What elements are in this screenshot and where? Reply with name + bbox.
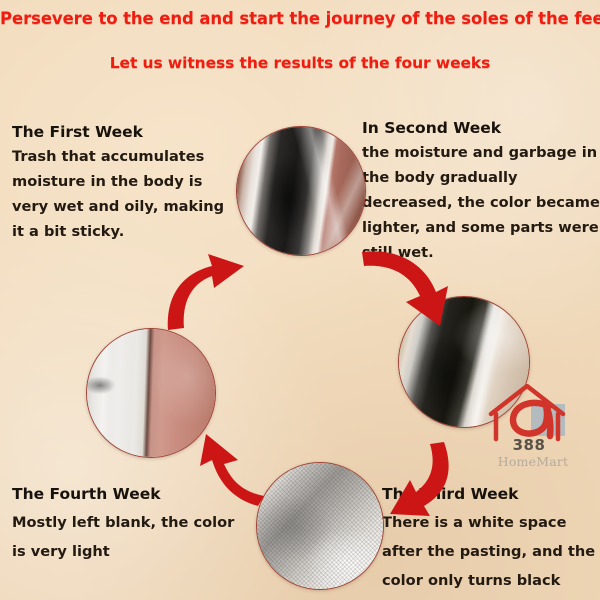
watermark: 388 HomeMart: [487, 392, 595, 478]
first-week-foot-patch-photo: [236, 126, 366, 256]
headline-secondary: Let us witness the results of the four w…: [0, 54, 600, 72]
watermark-number: 388: [487, 436, 571, 454]
arrow-week3-to-week4: [372, 440, 472, 522]
week-1-body: Trash that accumulates moisture in the b…: [12, 144, 234, 244]
week-4-body: Mostly left blank, the color is very lig…: [12, 508, 252, 566]
third-week-photo-surface: [257, 463, 383, 589]
third-week-foot-patch-photo: [256, 462, 384, 590]
week-1-title: The First Week: [12, 122, 234, 142]
poster-canvas: Persevere to the end and start the journ…: [0, 0, 600, 600]
week-2-title: In Second Week: [362, 118, 600, 138]
watermark-brand: HomeMart: [485, 454, 581, 469]
arrow-week4-to-start: [162, 432, 274, 514]
week-1-text-block: The First Week Trash that accumulates mo…: [12, 122, 234, 244]
headline-primary: Persevere to the end and start the journ…: [0, 9, 600, 28]
first-week-photo-surface: [237, 127, 365, 255]
arrow-week1-to-week2: [152, 248, 264, 340]
week-2-text-block: In Second Week the moisture and garbage …: [362, 118, 600, 265]
arrow-week2-to-week3: [356, 246, 468, 338]
